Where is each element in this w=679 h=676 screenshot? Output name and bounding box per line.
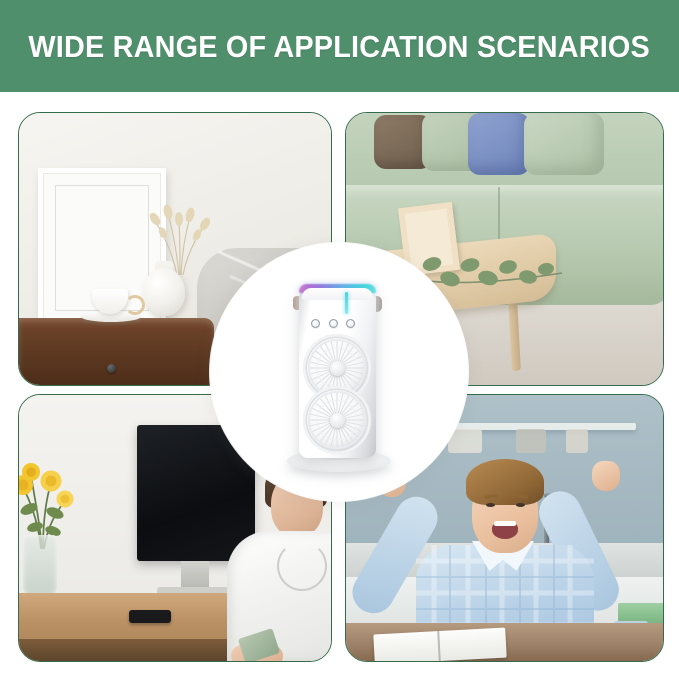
product-marketing-image: WIDE RANGE OF APPLICATION SCENARIOS [0, 0, 679, 676]
product-control-buttons [311, 318, 355, 328]
drawer-knob [107, 364, 116, 373]
open-book [373, 628, 506, 661]
mist-button[interactable] [346, 319, 355, 328]
nightstand [19, 318, 214, 385]
shelf-jar [516, 429, 546, 453]
monitor-stand [181, 561, 209, 589]
product-misting-tower-fan [287, 278, 391, 478]
ceramic-vase [143, 268, 185, 316]
shelf-jar [448, 429, 482, 453]
speed-button[interactable] [329, 319, 338, 328]
teacup-handle [125, 295, 145, 315]
dried-grass-icon [143, 203, 215, 275]
boy-hair [466, 459, 544, 505]
product-top-cap [302, 288, 373, 300]
fan-hub-upper [330, 361, 345, 376]
necklace [277, 541, 327, 591]
boy-eye-left [486, 503, 495, 507]
book-stack [618, 603, 663, 623]
status-indicator-light [345, 292, 348, 314]
power-button[interactable] [311, 319, 320, 328]
throw-pillow-sage-right [524, 113, 604, 175]
boy-open-mouth [492, 521, 518, 539]
shelf-jar [566, 429, 588, 453]
throw-pillow-blue [468, 113, 530, 175]
fan-lower [303, 386, 371, 454]
boy-right-fist [592, 461, 620, 491]
fan-hub-lower [330, 413, 345, 428]
glass-vase [23, 535, 57, 597]
boy-eye-right [516, 503, 525, 507]
header-banner: WIDE RANGE OF APPLICATION SCENARIOS [0, 0, 679, 92]
device-on-desk [129, 610, 171, 623]
page-title: WIDE RANGE OF APPLICATION SCENARIOS [29, 29, 651, 65]
